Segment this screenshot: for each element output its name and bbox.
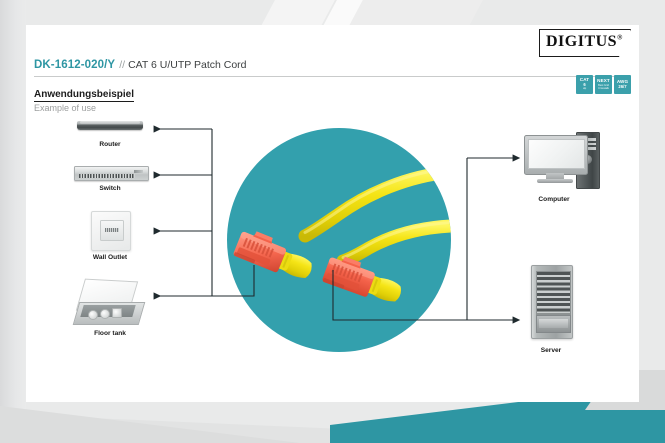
- floor-tank-socket-2: [100, 309, 110, 319]
- switch-leds: [134, 170, 143, 173]
- device-floor-tank: [74, 280, 144, 328]
- monitor-base: [537, 179, 573, 183]
- document-sheet: DIGITUS® DK-1612-020/Y//CAT 6 U/UTP Patc…: [26, 25, 639, 402]
- router-top-panel: [80, 121, 140, 124]
- device-label-server: Server: [501, 347, 601, 354]
- device-computer: [524, 135, 586, 185]
- device-label-floor-tank: Floor tank: [60, 330, 160, 337]
- server-icon: [531, 265, 573, 339]
- device-switch: [74, 166, 149, 181]
- switch-icon: [74, 166, 149, 181]
- wall-outlet-icon: [91, 211, 131, 251]
- device-label-router: Router: [60, 141, 160, 148]
- page-root: DIGITUS® DK-1612-020/Y//CAT 6 U/UTP Patc…: [0, 0, 665, 443]
- server-drive-bays: [536, 271, 571, 315]
- floor-tank-icon: [74, 280, 144, 328]
- monitor-screen: [528, 139, 585, 169]
- floor-tank-socket-1: [88, 310, 98, 320]
- switch-ports: [79, 174, 135, 178]
- wall-outlet-port: [100, 220, 124, 241]
- server-front-panel: [536, 315, 571, 333]
- device-label-switch: Switch: [60, 185, 160, 192]
- computer-icon: [524, 135, 586, 185]
- background-left-gradient: [0, 0, 26, 443]
- device-server: [531, 265, 573, 339]
- device-router: [77, 121, 143, 130]
- device-label-wall-outlet: Wall Outlet: [60, 254, 160, 261]
- router-icon: [77, 121, 143, 130]
- application-diagram: Router Switch Wall Outlet: [26, 25, 639, 402]
- device-wall-outlet: [91, 211, 131, 251]
- device-label-computer: Computer: [504, 196, 604, 203]
- wall-outlet-contacts: [105, 228, 119, 232]
- floor-tank-socket-3: [112, 308, 122, 318]
